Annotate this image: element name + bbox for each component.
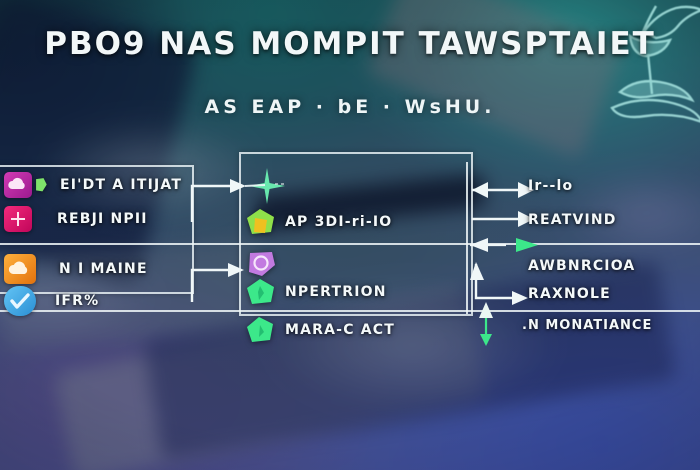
list-item[interactable]: RAXNOLE [528, 286, 611, 302]
green-pentagon-icon [246, 278, 276, 306]
list-item[interactable]: REATVIND [528, 212, 617, 228]
list-item-label: RAXNOLE [528, 286, 611, 302]
connector-feedback-up [474, 300, 514, 348]
list-item[interactable]: Ir--lo [528, 178, 573, 194]
crimson-plus-icon [4, 206, 32, 232]
purple-ring-pentagon-icon [246, 250, 276, 278]
list-item-label: REATVIND [528, 212, 617, 228]
list-item[interactable]: N I MAINE [4, 254, 148, 284]
list-item-label: REBJI NPII [57, 211, 148, 227]
list-item[interactable]: IFR% [4, 286, 99, 316]
page-subtitle: AS EAP · bE · WsHU. [0, 96, 700, 118]
list-item-label: IFR% [55, 293, 99, 309]
connector-right-2 [470, 206, 536, 232]
list-item[interactable]: EI'DT A ITIJAT [4, 172, 182, 198]
list-item[interactable]: MARA-C ACT [246, 316, 395, 344]
lime-pentagon-icon [35, 172, 51, 198]
star-sparkle-icon [245, 164, 289, 208]
list-item-label: AWBNRCIOA [528, 258, 635, 274]
blue-check-icon [4, 286, 36, 316]
orange-cloud-icon [4, 254, 36, 284]
yellow-green-pentagon-icon [246, 208, 276, 236]
diagram-canvas: PBO9 NAS MOMPIT TAWSPTAIET AS EAP · bE ·… [0, 0, 700, 470]
list-item[interactable]: AP 3DI-ri-IO [246, 208, 392, 236]
purple-pentagon-row[interactable] [246, 250, 276, 278]
list-item[interactable]: REBJI NPII [4, 206, 148, 232]
list-item-label: Ir--lo [528, 178, 573, 194]
connector-right-1 [470, 176, 536, 204]
list-item-label: MARA-C ACT [285, 322, 395, 338]
list-item-label: N I MAINE [59, 261, 148, 277]
separator-rule-upper [0, 243, 700, 245]
green-pentagon-icon-secondary [246, 316, 276, 344]
connector-left-bottom [186, 258, 248, 308]
magenta-cloud-icon [4, 172, 32, 198]
list-item-label: .N MONATIANCE [522, 318, 652, 333]
list-item-label: AP 3DI-ri-IO [285, 214, 392, 230]
list-item[interactable]: .N MONATIANCE [522, 318, 652, 333]
list-item-label: NPERTRION [285, 284, 387, 300]
connector-right-3 [466, 234, 546, 256]
list-item-label: EI'DT A ITIJAT [60, 177, 182, 193]
list-item[interactable]: AWBNRCIOA [528, 258, 635, 274]
cyan-glow-ornament [586, 0, 700, 146]
separator-rule-lower [0, 310, 700, 312]
page-title: PBO9 NAS MOMPIT TAWSPTAIET [0, 26, 700, 62]
connector-left-top [186, 176, 248, 226]
list-item[interactable]: NPERTRION [246, 278, 387, 306]
